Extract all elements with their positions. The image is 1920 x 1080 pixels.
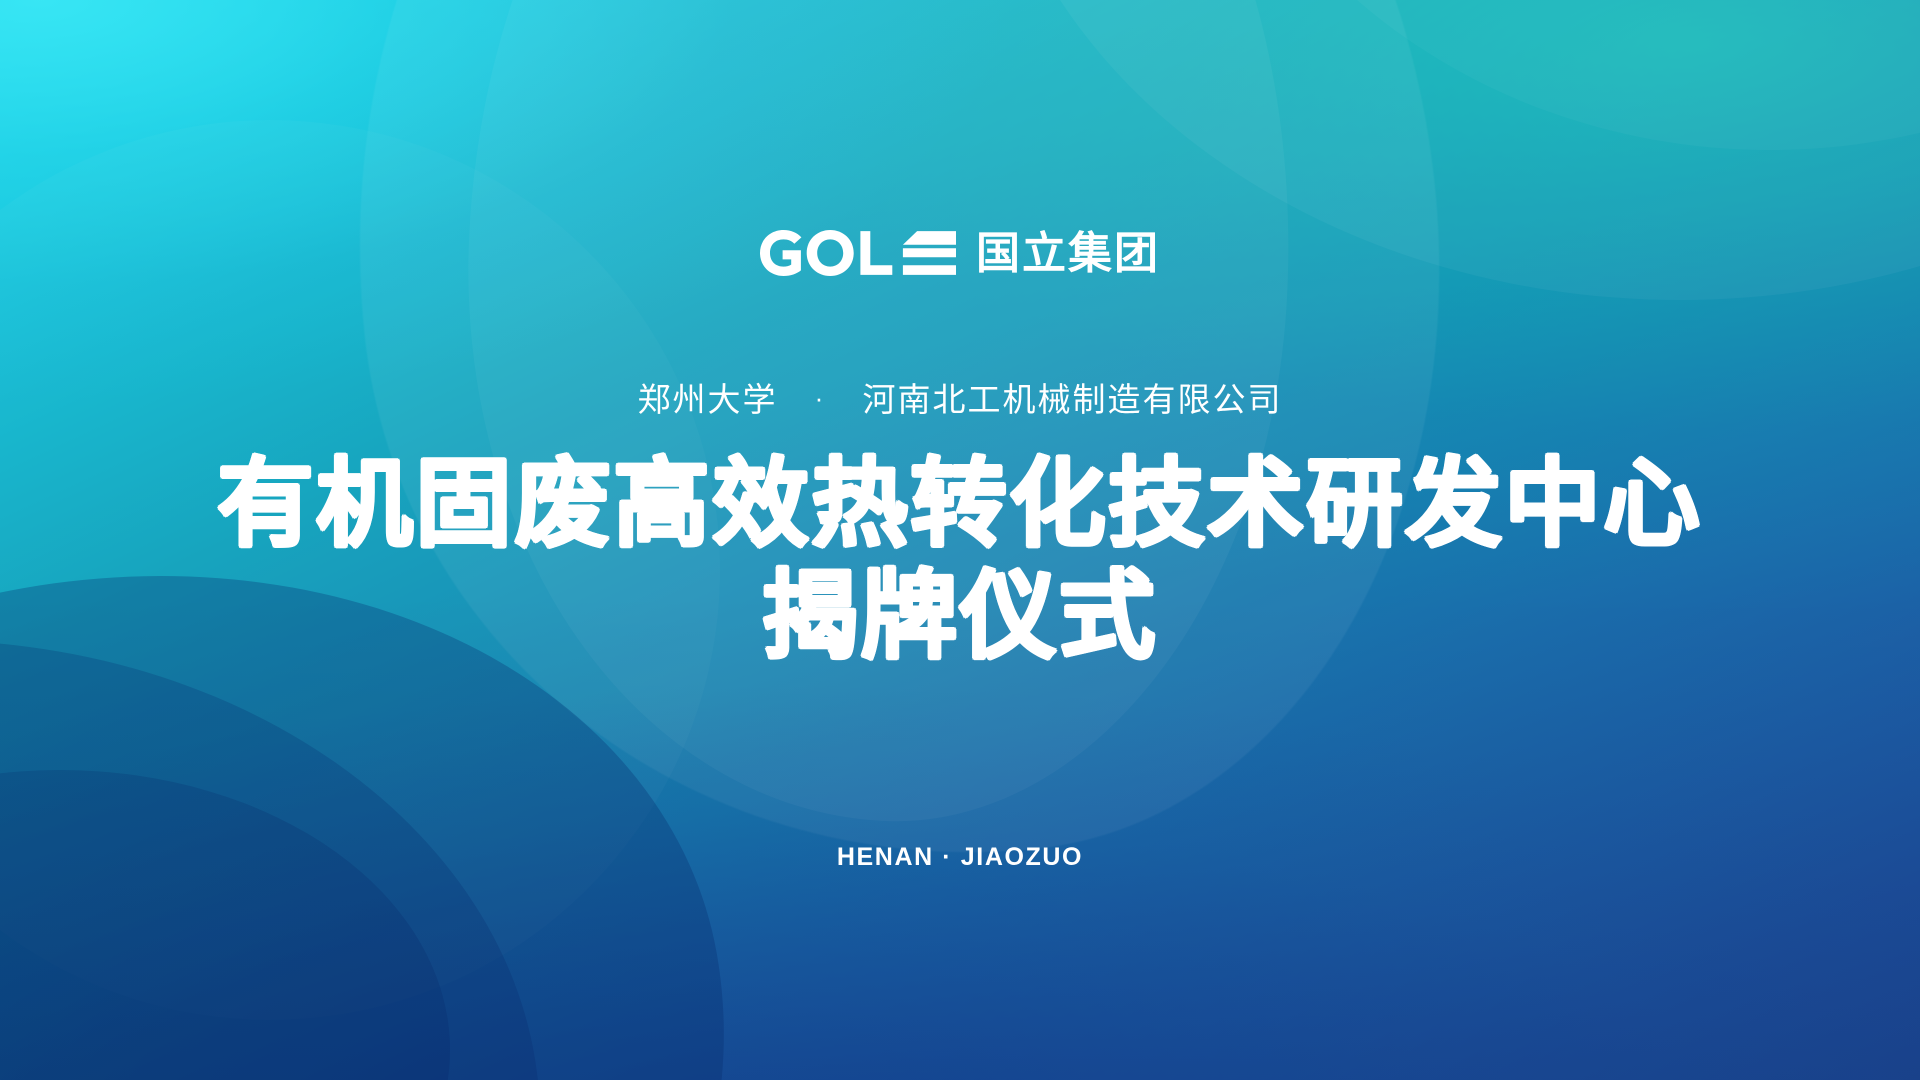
organization-secondary: 河南北工机械制造有限公司 (863, 381, 1283, 418)
slide-content: 国立集团 郑州大学 · 河南北工机械制造有限公司 有机固废高效热转化技术研发中心… (0, 0, 1920, 1080)
brand-chinese-name: 国立集团 (976, 232, 1160, 276)
main-title-line-2: 揭牌仪式 (0, 560, 1920, 672)
organization-separator: · (815, 385, 826, 411)
main-title-line-1: 有机固废高效热转化技术研发中心 (0, 448, 1920, 560)
brand-logo: 国立集团 (0, 230, 1920, 276)
main-title: 有机固废高效热转化技术研发中心 揭牌仪式 (0, 448, 1920, 673)
location-label: HENAN · JIAOZUO (0, 845, 1920, 870)
organizations-line: 郑州大学 · 河南北工机械制造有限公司 (0, 383, 1920, 416)
title-slide: 国立集团 郑州大学 · 河南北工机械制造有限公司 有机固废高效热转化技术研发中心… (0, 0, 1920, 1080)
gole-wordmark-logo-icon (760, 230, 956, 276)
organization-primary: 郑州大学 (637, 381, 777, 418)
